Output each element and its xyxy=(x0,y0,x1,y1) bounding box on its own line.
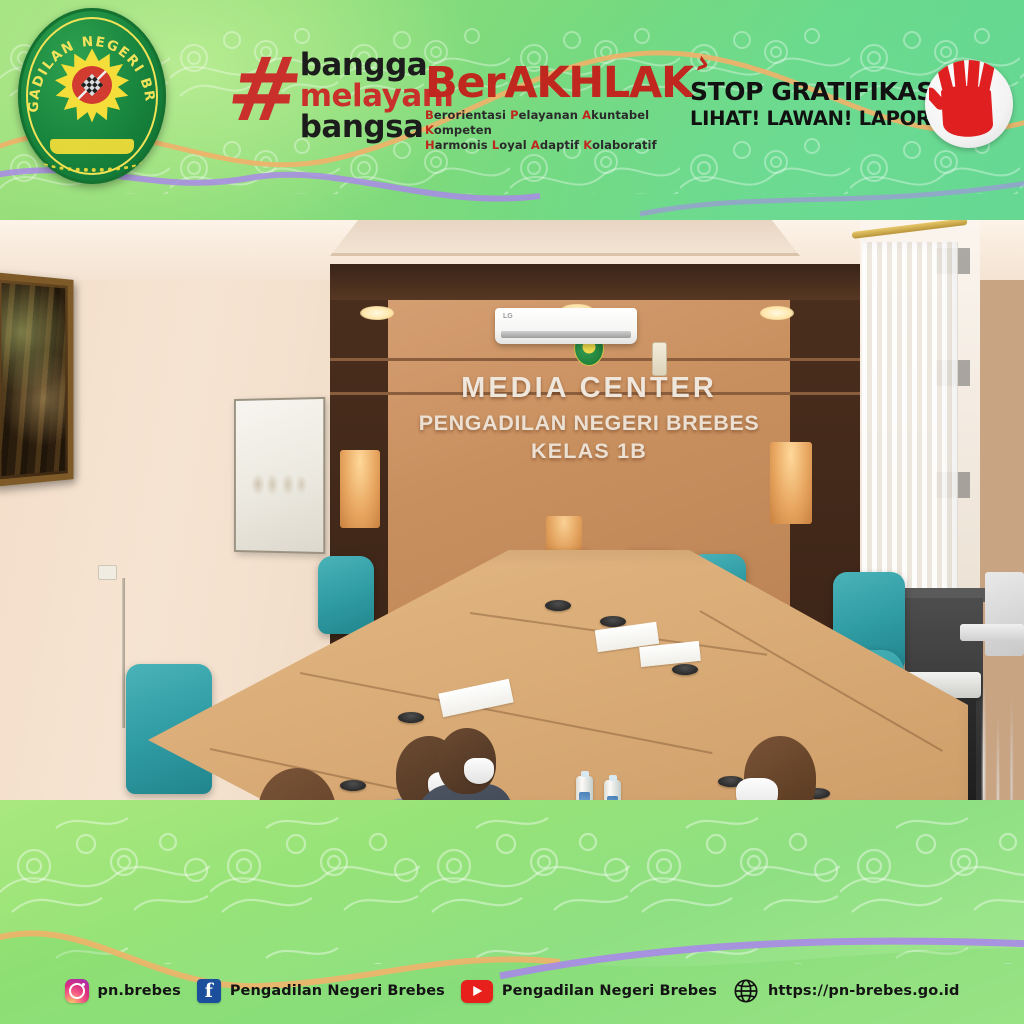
cable-grommet xyxy=(672,664,698,675)
berakhlak-title-text: BerAKHLAK xyxy=(425,58,693,108)
cable-grommet xyxy=(398,712,424,723)
social-item-instagram[interactable]: pn.brebes xyxy=(65,979,181,1003)
wall-conduit xyxy=(122,578,125,728)
seal-chain xyxy=(42,150,142,172)
globe-icon[interactable] xyxy=(733,978,759,1004)
framed-batik-artwork xyxy=(0,272,74,487)
air-conditioner-icon: LG xyxy=(495,308,637,344)
instagram-handle[interactable]: pn.brebes xyxy=(98,983,181,999)
ceiling-recess xyxy=(330,220,800,256)
wall-niche-left xyxy=(340,450,380,528)
berakhlak-subtitle-line-2: Harmonis Loyal Adaptif Kolaboratif xyxy=(425,138,695,153)
face-mask xyxy=(736,778,778,800)
social-media-row: pn.brebes f Pengadilan Negeri Brebes Pen… xyxy=(0,978,1024,1004)
whiteboard xyxy=(234,397,325,554)
header-banner: PENGADILAN NEGERI BREBES # bangga melaya… xyxy=(0,0,1024,220)
red-handprint-icon xyxy=(925,60,1013,148)
poster-canvas: PENGADILAN NEGERI BREBES # bangga melaya… xyxy=(0,0,1024,1024)
ac-brand-label: LG xyxy=(503,313,513,320)
water-bottle xyxy=(576,776,593,800)
water-bottle xyxy=(604,780,621,800)
berakhlak-title: BerAKHLAK › xyxy=(425,62,693,105)
website-url[interactable]: https://pn-brebes.go.id xyxy=(768,983,960,999)
youtube-handle[interactable]: Pengadilan Negeri Brebes xyxy=(502,983,717,999)
sign-line-1: MEDIA CENTER xyxy=(388,372,790,405)
cable-grommet xyxy=(340,780,366,791)
hashtag-glyph-icon: # xyxy=(223,50,303,131)
cable-grommet xyxy=(600,616,626,627)
facebook-handle[interactable]: Pengadilan Negeri Brebes xyxy=(230,983,445,999)
cable-grommet xyxy=(545,600,571,611)
media-center-sign: MEDIA CENTER PENGADILAN NEGERI BREBES KE… xyxy=(388,324,790,504)
ac-vent xyxy=(501,331,631,338)
sign-line-2: PENGADILAN NEGERI BREBES xyxy=(388,411,790,436)
wall-downlight xyxy=(360,306,394,320)
face-mask xyxy=(464,758,494,784)
social-item-website[interactable]: https://pn-brebes.go.id xyxy=(733,978,960,1004)
berakhlak-subtitle-line-1: Berorientasi Pelayanan Akuntabel Kompete… xyxy=(425,108,695,138)
wall-downlight xyxy=(760,306,794,320)
ac-remote-holder xyxy=(652,342,667,376)
instagram-icon[interactable] xyxy=(65,979,89,1003)
berakhlak-logo: BerAKHLAK › Berorientasi Pelayanan Akunt… xyxy=(425,62,695,154)
youtube-icon[interactable] xyxy=(461,980,493,1003)
bangga-melayani-bangsa-logo: # bangga melayani bangsa xyxy=(228,48,453,143)
sign-line-3: KELAS 1B xyxy=(388,439,790,464)
wall-socket xyxy=(98,565,117,580)
meeting-room-photograph: MEDIA CENTER PENGADILAN NEGERI BREBES KE… xyxy=(0,220,1024,800)
court-seal-logo: PENGADILAN NEGERI BREBES xyxy=(18,8,166,184)
teal-chair xyxy=(318,556,374,634)
social-item-facebook[interactable]: f Pengadilan Negeri Brebes xyxy=(197,979,445,1003)
facebook-icon[interactable]: f xyxy=(197,979,221,1003)
seal-emblem xyxy=(55,48,129,122)
social-item-youtube[interactable]: Pengadilan Negeri Brebes xyxy=(461,980,717,1003)
wood-trim-band xyxy=(330,264,890,304)
